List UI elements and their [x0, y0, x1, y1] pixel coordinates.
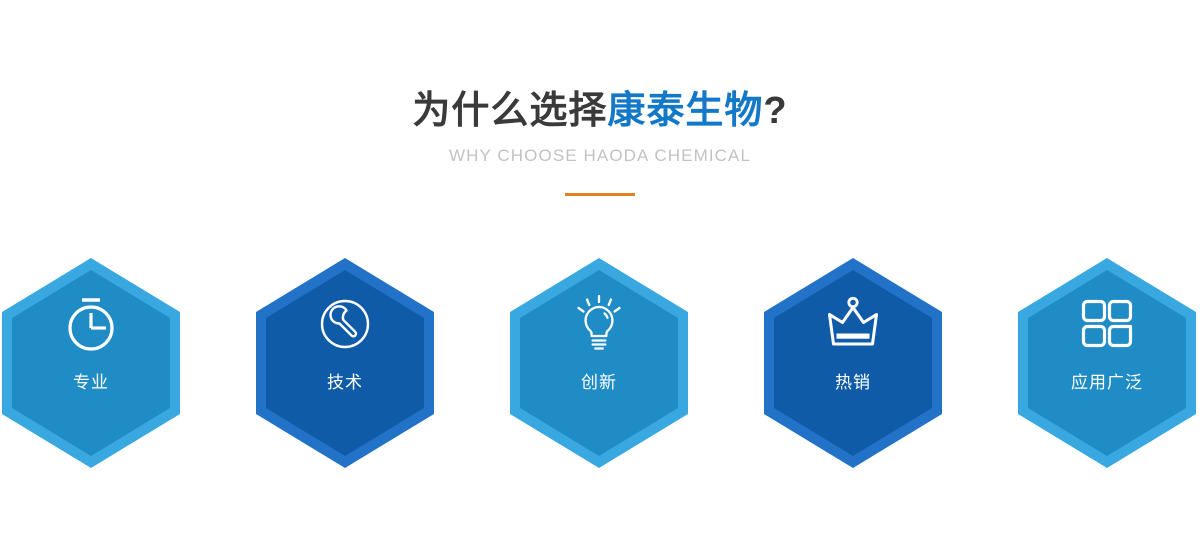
page-title-prefix: 为什么选择: [412, 90, 607, 132]
feature-hexagon-热销[interactable]: 热销: [762, 256, 944, 470]
why-choose-us-section: 为什么选择康泰生物? WHY CHOOSE HAODA CHEMICAL 专业: [0, 0, 1200, 560]
feature-content: 专业: [0, 256, 182, 470]
page-title: 为什么选择康泰生物?: [0, 86, 1200, 136]
section-header: 为什么选择康泰生物? WHY CHOOSE HAODA CHEMICAL: [0, 86, 1200, 187]
feature-label: 创新: [581, 372, 617, 394]
crown-icon: [821, 292, 885, 356]
feature-content: 应用广泛: [1016, 256, 1198, 470]
feature-hexagon-技术[interactable]: 技术: [254, 256, 436, 470]
feature-hexagon-专业[interactable]: 专业: [0, 256, 182, 470]
divider-wrap: [0, 183, 1200, 187]
section-subtitle: WHY CHOOSE HAODA CHEMICAL: [0, 145, 1200, 167]
feature-hexagon-row: 专业 技术: [0, 256, 1200, 472]
page-title-suffix: ?: [763, 90, 787, 132]
lightbulb-icon: [567, 292, 631, 356]
feature-content: 技术: [254, 256, 436, 470]
feature-label: 应用广泛: [1071, 372, 1143, 394]
feature-label: 热销: [835, 372, 871, 394]
stopwatch-icon: [59, 292, 123, 356]
grid-squares-icon: [1075, 292, 1139, 356]
feature-hexagon-应用广泛[interactable]: 应用广泛: [1016, 256, 1198, 470]
accent-divider: [565, 193, 635, 196]
page-title-brand: 康泰生物: [607, 90, 763, 132]
wrench-circle-icon: [313, 292, 377, 356]
feature-label: 技术: [327, 372, 363, 394]
feature-content: 热销: [762, 256, 944, 470]
feature-hexagon-创新[interactable]: 创新: [508, 256, 690, 470]
feature-label: 专业: [73, 372, 109, 394]
feature-content: 创新: [508, 256, 690, 470]
